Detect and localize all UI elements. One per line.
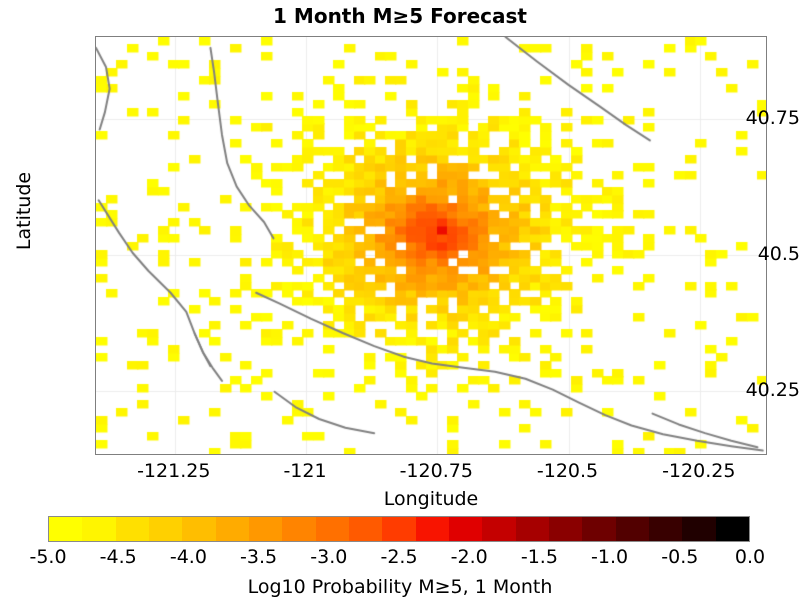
colorbar-tick-label: -3.0	[310, 546, 347, 568]
y-tick-label: 40.75	[712, 107, 800, 129]
colorbar-segment	[716, 517, 749, 541]
colorbar-tick-label: -4.5	[100, 546, 137, 568]
colorbar-tick-label: -2.5	[380, 546, 417, 568]
colorbar-segment	[382, 517, 415, 541]
x-tick-label: -120.75	[400, 460, 473, 482]
colorbar-segment	[216, 517, 249, 541]
colorbar-segment	[82, 517, 115, 541]
colorbar-segment	[449, 517, 482, 541]
y-axis-title: Latitude	[13, 141, 35, 281]
colorbar-segment	[549, 517, 582, 541]
map-plot-area[interactable]	[95, 36, 767, 455]
colorbar-tick-label: -0.5	[661, 546, 698, 568]
colorbar-tick-label: 0.0	[735, 546, 765, 568]
colorbar-segment	[182, 517, 215, 541]
colorbar-segment	[416, 517, 449, 541]
x-tick-label: -121.25	[137, 460, 210, 482]
colorbar-segment	[316, 517, 349, 541]
colorbar[interactable]	[48, 516, 750, 542]
fault-trace-overlay-canvas	[96, 37, 767, 455]
colorbar-tick-label: -1.0	[591, 546, 628, 568]
y-tick-label: 40.5	[712, 243, 800, 265]
colorbar-segment	[349, 517, 382, 541]
colorbar-tick-label: -3.5	[240, 546, 277, 568]
colorbar-segment	[616, 517, 649, 541]
colorbar-title: Log10 Probability M≥5, 1 Month	[0, 576, 800, 598]
x-axis-title: Longitude	[95, 488, 767, 510]
colorbar-tick-label: -1.5	[521, 546, 558, 568]
page-title: 1 Month M≥5 Forecast	[0, 4, 800, 28]
colorbar-segment	[116, 517, 149, 541]
colorbar-tick-label: -5.0	[29, 546, 66, 568]
forecast-figure: 1 Month M≥5 Forecast 40.7540.540.25 -121…	[0, 0, 800, 607]
colorbar-tick-label: -2.0	[451, 546, 488, 568]
x-tick-label: -121	[283, 460, 326, 482]
y-tick-label: 40.25	[712, 379, 800, 401]
colorbar-segment	[49, 517, 82, 541]
colorbar-segment	[682, 517, 715, 541]
x-tick-label: -120.5	[537, 460, 598, 482]
colorbar-segment	[649, 517, 682, 541]
colorbar-segment	[249, 517, 282, 541]
x-tick-label: -120.25	[662, 460, 735, 482]
colorbar-segment	[282, 517, 315, 541]
colorbar-segment	[582, 517, 615, 541]
colorbar-segment	[516, 517, 549, 541]
colorbar-segment	[149, 517, 182, 541]
colorbar-segment	[482, 517, 515, 541]
colorbar-tick-label: -4.0	[170, 546, 207, 568]
